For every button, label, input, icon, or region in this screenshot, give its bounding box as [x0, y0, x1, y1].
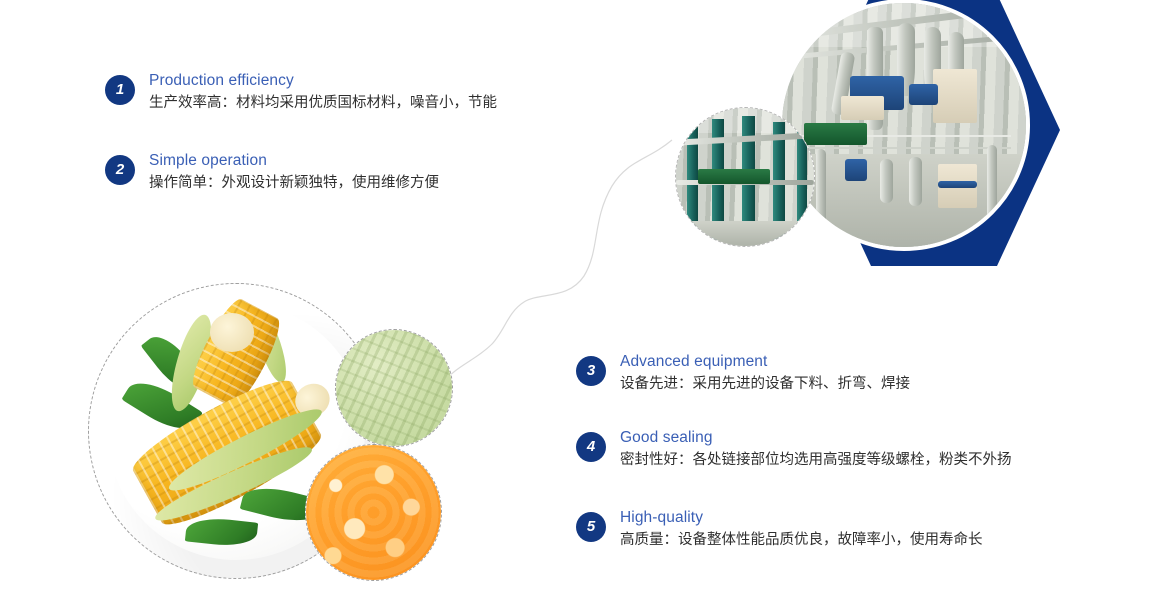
corn-kernel-photo[interactable] — [305, 444, 442, 581]
corn-paste-photo-image — [336, 330, 452, 446]
feature-item-2: 2 Simple operation 操作简单：外观设计新颖独特，使用维修方便 — [105, 155, 439, 194]
factory-photo-cluster — [660, 0, 1154, 284]
feature-item-4: 4 Good sealing 密封性好：各处链接部位均选用高强度等级螺栓，粉类不… — [576, 432, 1012, 471]
feature-badge-4: 4 — [576, 432, 606, 462]
feature-description-5: 高质量：设备整体性能品质优良，故障率小，使用寿命长 — [620, 529, 983, 551]
factory-photo-small[interactable] — [675, 107, 815, 247]
feature-item-3: 3 Advanced equipment 设备先进：采用先进的设备下料、折弯、焊… — [576, 356, 910, 395]
feature-badge-1: 1 — [105, 75, 135, 105]
feature-text-2: Simple operation 操作简单：外观设计新颖独特，使用维修方便 — [149, 151, 439, 194]
feature-description-4: 密封性好：各处链接部位均选用高强度等级螺栓，粉类不外扬 — [620, 449, 1012, 471]
feature-title-3: Advanced equipment — [620, 352, 910, 372]
feature-badge-2: 2 — [105, 155, 135, 185]
feature-text-4: Good sealing 密封性好：各处链接部位均选用高强度等级螺栓，粉类不外扬 — [620, 428, 1012, 471]
feature-item-5: 5 High-quality 高质量：设备整体性能品质优良，故障率小，使用寿命长 — [576, 512, 983, 551]
factory-photo-large[interactable] — [778, 0, 1030, 251]
feature-infographic-page: 1 Production efficiency 生产效率高：材料均采用优质国标材… — [0, 0, 1154, 591]
factory-photo-small-image — [679, 111, 811, 243]
feature-description-2: 操作简单：外观设计新颖独特，使用维修方便 — [149, 172, 439, 194]
produce-photo-cluster — [86, 281, 486, 591]
feature-badge-5: 5 — [576, 512, 606, 542]
feature-description-3: 设备先进：采用先进的设备下料、折弯、焊接 — [620, 373, 910, 395]
feature-text-1: Production efficiency 生产效率高：材料均采用优质国标材料，… — [149, 71, 497, 114]
feature-text-3: Advanced equipment 设备先进：采用先进的设备下料、折弯、焊接 — [620, 352, 910, 395]
feature-title-1: Production efficiency — [149, 71, 497, 91]
feature-description-1: 生产效率高：材料均采用优质国标材料，噪音小，节能 — [149, 92, 497, 114]
feature-badge-3: 3 — [576, 356, 606, 386]
feature-title-5: High-quality — [620, 508, 983, 528]
corn-paste-photo[interactable] — [335, 329, 453, 447]
feature-text-5: High-quality 高质量：设备整体性能品质优良，故障率小，使用寿命长 — [620, 508, 983, 551]
feature-item-1: 1 Production efficiency 生产效率高：材料均采用优质国标材… — [105, 75, 497, 114]
corn-kernel-photo-image — [306, 445, 441, 580]
feature-title-2: Simple operation — [149, 151, 439, 171]
factory-photo-large-image — [782, 3, 1026, 247]
feature-title-4: Good sealing — [620, 428, 1012, 448]
